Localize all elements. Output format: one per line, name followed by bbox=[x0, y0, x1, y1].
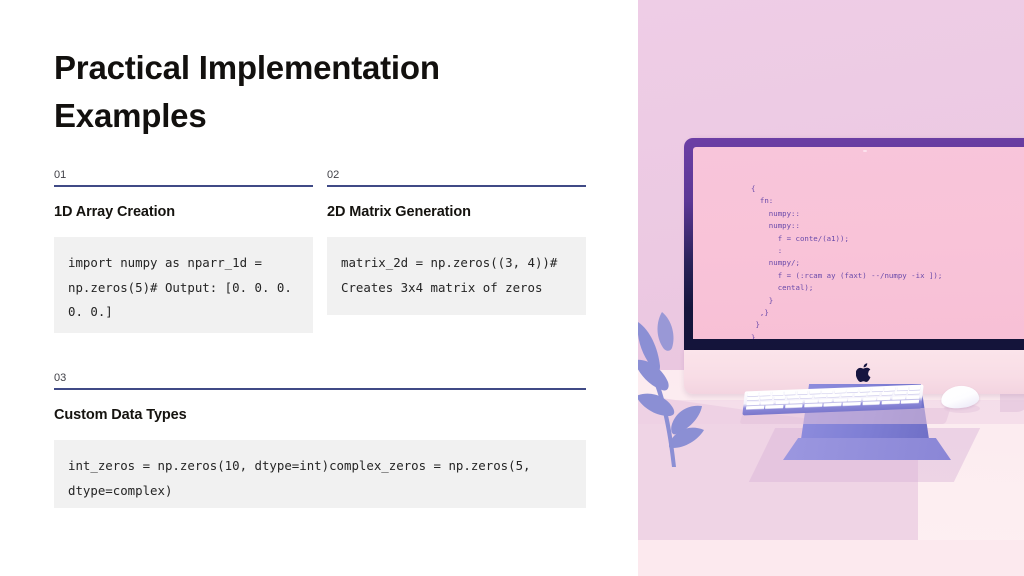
section-02: 02 2D Matrix Generation matrix_2d = np.z… bbox=[327, 168, 586, 333]
keyboard-key bbox=[863, 397, 876, 401]
keyboard-key bbox=[746, 406, 764, 410]
keyboard-key bbox=[847, 388, 858, 392]
keyboard-key bbox=[804, 404, 822, 408]
keyboard-key bbox=[862, 401, 880, 405]
keyboard-key bbox=[882, 401, 900, 405]
keyboard-key bbox=[884, 387, 895, 391]
content-panel: Practical Implementation Examples 01 1D … bbox=[0, 0, 638, 576]
keyboard-key bbox=[760, 396, 772, 400]
keyboard-key bbox=[760, 392, 771, 396]
keyboard-key bbox=[805, 399, 818, 403]
section-rule-02 bbox=[327, 185, 586, 187]
desk-front-edge bbox=[638, 540, 1024, 576]
keyboard-key bbox=[860, 388, 871, 392]
sections-container: 01 1D Array Creation import numpy as npa… bbox=[54, 168, 586, 508]
keyboard-key bbox=[775, 400, 788, 404]
sections-row-2: 03 Custom Data Types int_zeros = np.zero… bbox=[54, 371, 586, 508]
keyboard-key bbox=[908, 391, 920, 395]
keyboard-key bbox=[848, 397, 861, 401]
monitor: { fn: numpy:: numpy:: f = conte/(a1)); :… bbox=[684, 138, 1024, 384]
keyboard-key bbox=[785, 404, 803, 408]
webcam-dot bbox=[863, 150, 867, 152]
code-block-03: int_zeros = np.zeros(10, dtype=int)compl… bbox=[54, 440, 586, 508]
keyboard-key bbox=[892, 396, 905, 400]
apple-logo-icon bbox=[856, 362, 874, 383]
section-number-01: 01 bbox=[54, 168, 313, 185]
keyboard-key bbox=[835, 389, 846, 393]
keyboard-key bbox=[819, 399, 832, 403]
keyboard-key bbox=[761, 401, 774, 405]
keyboard-key bbox=[827, 394, 839, 398]
page-title: Practical Implementation Examples bbox=[54, 44, 524, 140]
keyboard-key bbox=[822, 389, 833, 393]
keyboard-key bbox=[854, 393, 866, 397]
keyboard-key bbox=[747, 397, 759, 401]
section-rule-03 bbox=[54, 388, 586, 390]
illustration-panel: { fn: numpy:: numpy:: f = conte/(a1)); :… bbox=[638, 0, 1024, 576]
keyboard-key bbox=[897, 387, 908, 391]
keyboard-key bbox=[823, 403, 841, 407]
screen-code-text: { fn: numpy:: numpy:: f = conte/(a1)); :… bbox=[751, 183, 942, 339]
sections-row-1: 01 1D Array Creation import numpy as npa… bbox=[54, 168, 586, 333]
section-03: 03 Custom Data Types int_zeros = np.zero… bbox=[54, 371, 586, 508]
keyboard-key bbox=[772, 391, 783, 395]
monitor-stand-base bbox=[783, 438, 951, 460]
section-rule-01 bbox=[54, 185, 313, 187]
keyboard-key bbox=[881, 392, 893, 396]
keyboard-key bbox=[872, 388, 883, 392]
keyboard-key bbox=[895, 391, 907, 395]
section-number-03: 03 bbox=[54, 371, 586, 388]
section-heading-01: 1D Array Creation bbox=[54, 204, 313, 220]
keyboard-key bbox=[765, 405, 783, 409]
keyboard-key bbox=[790, 400, 803, 404]
keyboard-key bbox=[746, 401, 759, 405]
keyboard-key bbox=[906, 395, 919, 399]
keyboard-key bbox=[785, 391, 796, 395]
section-heading-03: Custom Data Types bbox=[54, 407, 586, 423]
slide: Practical Implementation Examples 01 1D … bbox=[0, 0, 1024, 576]
section-number-02: 02 bbox=[327, 168, 586, 185]
section-heading-02: 2D Matrix Generation bbox=[327, 204, 586, 220]
keyboard-key bbox=[797, 390, 808, 394]
keyboard-key bbox=[843, 402, 861, 406]
monitor-screen: { fn: numpy:: numpy:: f = conte/(a1)); :… bbox=[693, 147, 1024, 339]
keyboard-key bbox=[774, 396, 786, 400]
code-block-01: import numpy as nparr_1d = np.zeros(5)# … bbox=[54, 237, 313, 333]
section-01: 01 1D Array Creation import numpy as npa… bbox=[54, 168, 313, 333]
keyboard-key bbox=[901, 400, 919, 404]
keyboard-key bbox=[834, 398, 847, 402]
keyboard-key bbox=[814, 394, 826, 398]
keyboard-key bbox=[877, 396, 890, 400]
keyboard-key bbox=[810, 390, 821, 394]
keyboard-key bbox=[909, 386, 920, 390]
keyboard-key bbox=[747, 392, 758, 396]
code-block-02: matrix_2d = np.zeros((3, 4))# Creates 3x… bbox=[327, 237, 586, 315]
